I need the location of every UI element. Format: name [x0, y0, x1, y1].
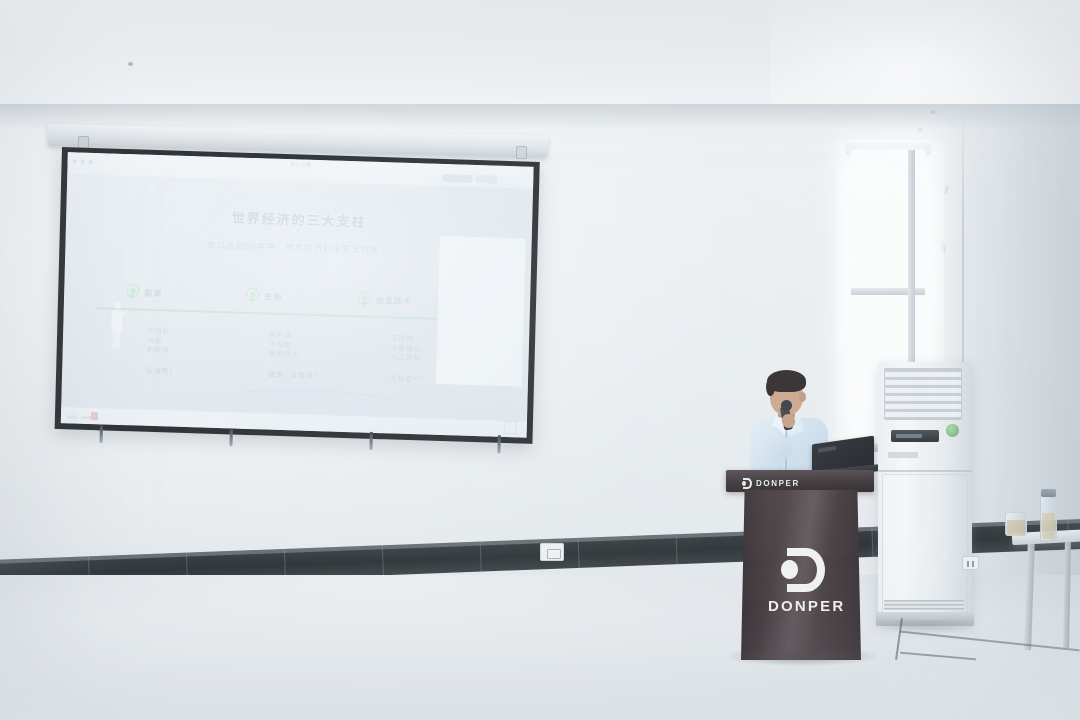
column-question: 石油呢？ [146, 364, 268, 378]
chrome-action-buttons[interactable] [442, 174, 497, 184]
timeline-node: 能源 [126, 284, 162, 302]
projection-screen: 演示文稿 世界经济的三大支柱 在过去的50年中，世界经济的主要支柱是： [55, 147, 540, 444]
ac-panel-seam [878, 470, 972, 472]
timeline-label: 能源 [144, 288, 162, 300]
ceiling [0, 0, 1080, 120]
edit-button[interactable] [475, 175, 497, 184]
podium-brand-text-small: DONPER [756, 479, 800, 488]
presenter-hair [766, 378, 775, 396]
window-controls[interactable] [73, 159, 93, 164]
timeline-label: 信息技术 [376, 295, 412, 307]
ac-louver-vent [884, 368, 962, 420]
ceiling-fixture-mark [128, 62, 133, 66]
presenter-ear [799, 392, 806, 402]
footer-thumbnail[interactable] [81, 416, 91, 419]
podium-floor-shadow [726, 650, 878, 666]
location-pin-icon [358, 291, 371, 308]
microphone-head [781, 400, 792, 411]
window-control-dot[interactable] [89, 160, 93, 164]
ac-brand-badge [946, 424, 959, 437]
donper-logo-icon [781, 548, 825, 592]
bottle-contents [1042, 513, 1055, 539]
wall-power-outlet[interactable] [540, 543, 564, 561]
window-control-dot[interactable] [73, 159, 77, 163]
timeline-node: 信息技术 [358, 291, 412, 310]
location-pin-icon [246, 288, 259, 305]
screen-mount-bracket [516, 146, 527, 159]
window-title: 演示文稿 [290, 161, 312, 169]
timeline-label: 生物 [264, 291, 282, 303]
screen-surface: 演示文稿 世界经济的三大支柱 在过去的50年中，世界经济的主要支柱是： [61, 152, 534, 438]
floor-power-outlet[interactable] [962, 556, 979, 570]
wall-mark [918, 128, 922, 131]
slide-side-panel [436, 236, 526, 387]
play-button[interactable] [442, 174, 472, 183]
donper-logo-icon [742, 478, 752, 489]
ac-front-door [882, 474, 968, 614]
cup-contents [1007, 520, 1025, 535]
podium-top-branding: DONPER [742, 478, 800, 489]
footer-thumbnail[interactable] [67, 415, 77, 418]
ac-floor-shadow [872, 620, 980, 634]
wall-mark [930, 110, 936, 114]
timeline-node: 生物 [246, 288, 282, 306]
footer-thumbnails[interactable] [67, 415, 91, 419]
slide-title: 世界经济的三大支柱 [66, 202, 532, 236]
footer-accent-badge [91, 412, 98, 420]
ac-display-panel[interactable] [891, 430, 939, 442]
location-pin-icon [126, 284, 139, 301]
podium-brand-text: DONPER [768, 598, 838, 615]
column-question: 健康、又能活？ [268, 368, 390, 382]
ac-bottom-grille [884, 600, 964, 610]
ceiling-light-glare [770, 0, 1080, 120]
fullscreen-icon[interactable] [504, 421, 517, 434]
podium-branding: DONPER [768, 548, 838, 615]
presentation-room-photo: 演示文稿 世界经济的三大支柱 在过去的50年中，世界经济的主要支柱是： [0, 0, 1080, 720]
window-control-dot[interactable] [81, 160, 85, 164]
slide-person-illustration [109, 302, 126, 350]
ac-brand-logo [888, 452, 918, 458]
bottle-cap [1041, 489, 1056, 497]
